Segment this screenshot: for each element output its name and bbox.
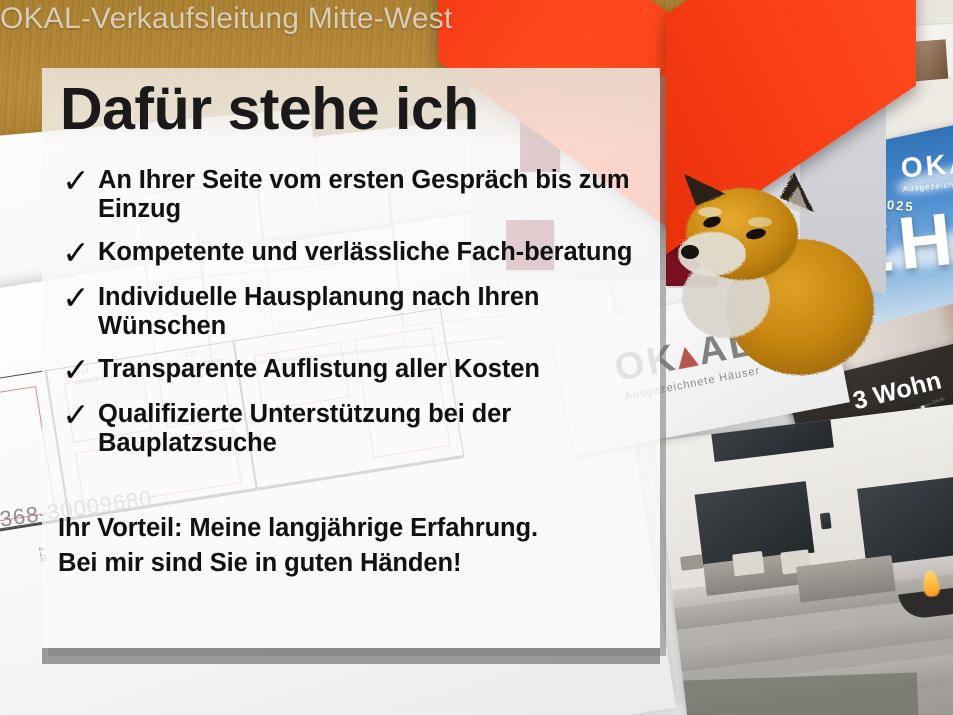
terrace-plant-pot — [680, 554, 704, 571]
list-item: ✓ An Ihrer Seite vom ersten Gespräch bis… — [54, 166, 654, 224]
terrace-lawn — [657, 672, 920, 715]
list-item-label: Individuelle Hausplanung nach Ihren Wüns… — [98, 283, 654, 341]
closing-line-2: Bei mir sind Sie in guten Händen! — [58, 546, 638, 581]
list-item-label: Qualifizierte Unterstützung bei der Baup… — [98, 400, 654, 458]
checkmark-icon: ✓ — [54, 164, 98, 197]
slide-canvas: 214 DUWO 2 237 ca. 10.32 m² 14 m² 2.20 2… — [0, 0, 953, 715]
closing-statement: Ihr Vorteil: Meine langjährige Erfahrung… — [58, 511, 638, 581]
checkmark-icon: ✓ — [54, 236, 98, 269]
page-title: OKAL-Verkaufsleitung Mitte-West — [0, 2, 700, 42]
list-item-label: Kompetente und verlässliche Fach-beratun… — [98, 238, 654, 267]
list-item: ✓ Individuelle Hausplanung nach Ihren Wü… — [54, 283, 654, 341]
checkmark-icon: ✓ — [54, 398, 98, 431]
terrace-cushion-1 — [732, 551, 764, 576]
list-item: ✓ Qualifizierte Unterstützung bei der Ba… — [54, 400, 654, 458]
fox-plush-toy — [668, 172, 888, 387]
brochure-blue-brand: OKAL Ausgezeichnete Häuser — [900, 143, 953, 193]
checkmark-icon: ✓ — [54, 353, 98, 386]
list-item: ✓ Transparente Auflistung aller Kosten — [54, 355, 654, 386]
terrace-flame — [922, 570, 941, 598]
closing-line-1: Ihr Vorteil: Meine langjährige Erfahrung… — [58, 511, 638, 546]
list-item-label: Transparente Auflistung aller Kosten — [98, 355, 654, 384]
brochure-blue-brand-text: OKAL — [900, 145, 953, 184]
terrace-window-right — [857, 476, 953, 567]
panel-heading: Dafür stehe ich — [60, 80, 479, 139]
brochure-terrace-photo — [654, 401, 953, 715]
list-item: ✓ Kompetente und verlässliche Fach-berat… — [54, 238, 654, 269]
list-item-label: An Ihrer Seite vom ersten Gespräch bis z… — [98, 166, 654, 224]
checkmark-icon: ✓ — [54, 281, 98, 314]
panel-bottom-bar — [42, 648, 660, 664]
content-panel: Dafür stehe ich ✓ An Ihrer Seite vom ers… — [42, 68, 660, 648]
terrace-wall-lamp — [820, 512, 832, 529]
benefits-list: ✓ An Ihrer Seite vom ersten Gespräch bis… — [54, 166, 654, 472]
